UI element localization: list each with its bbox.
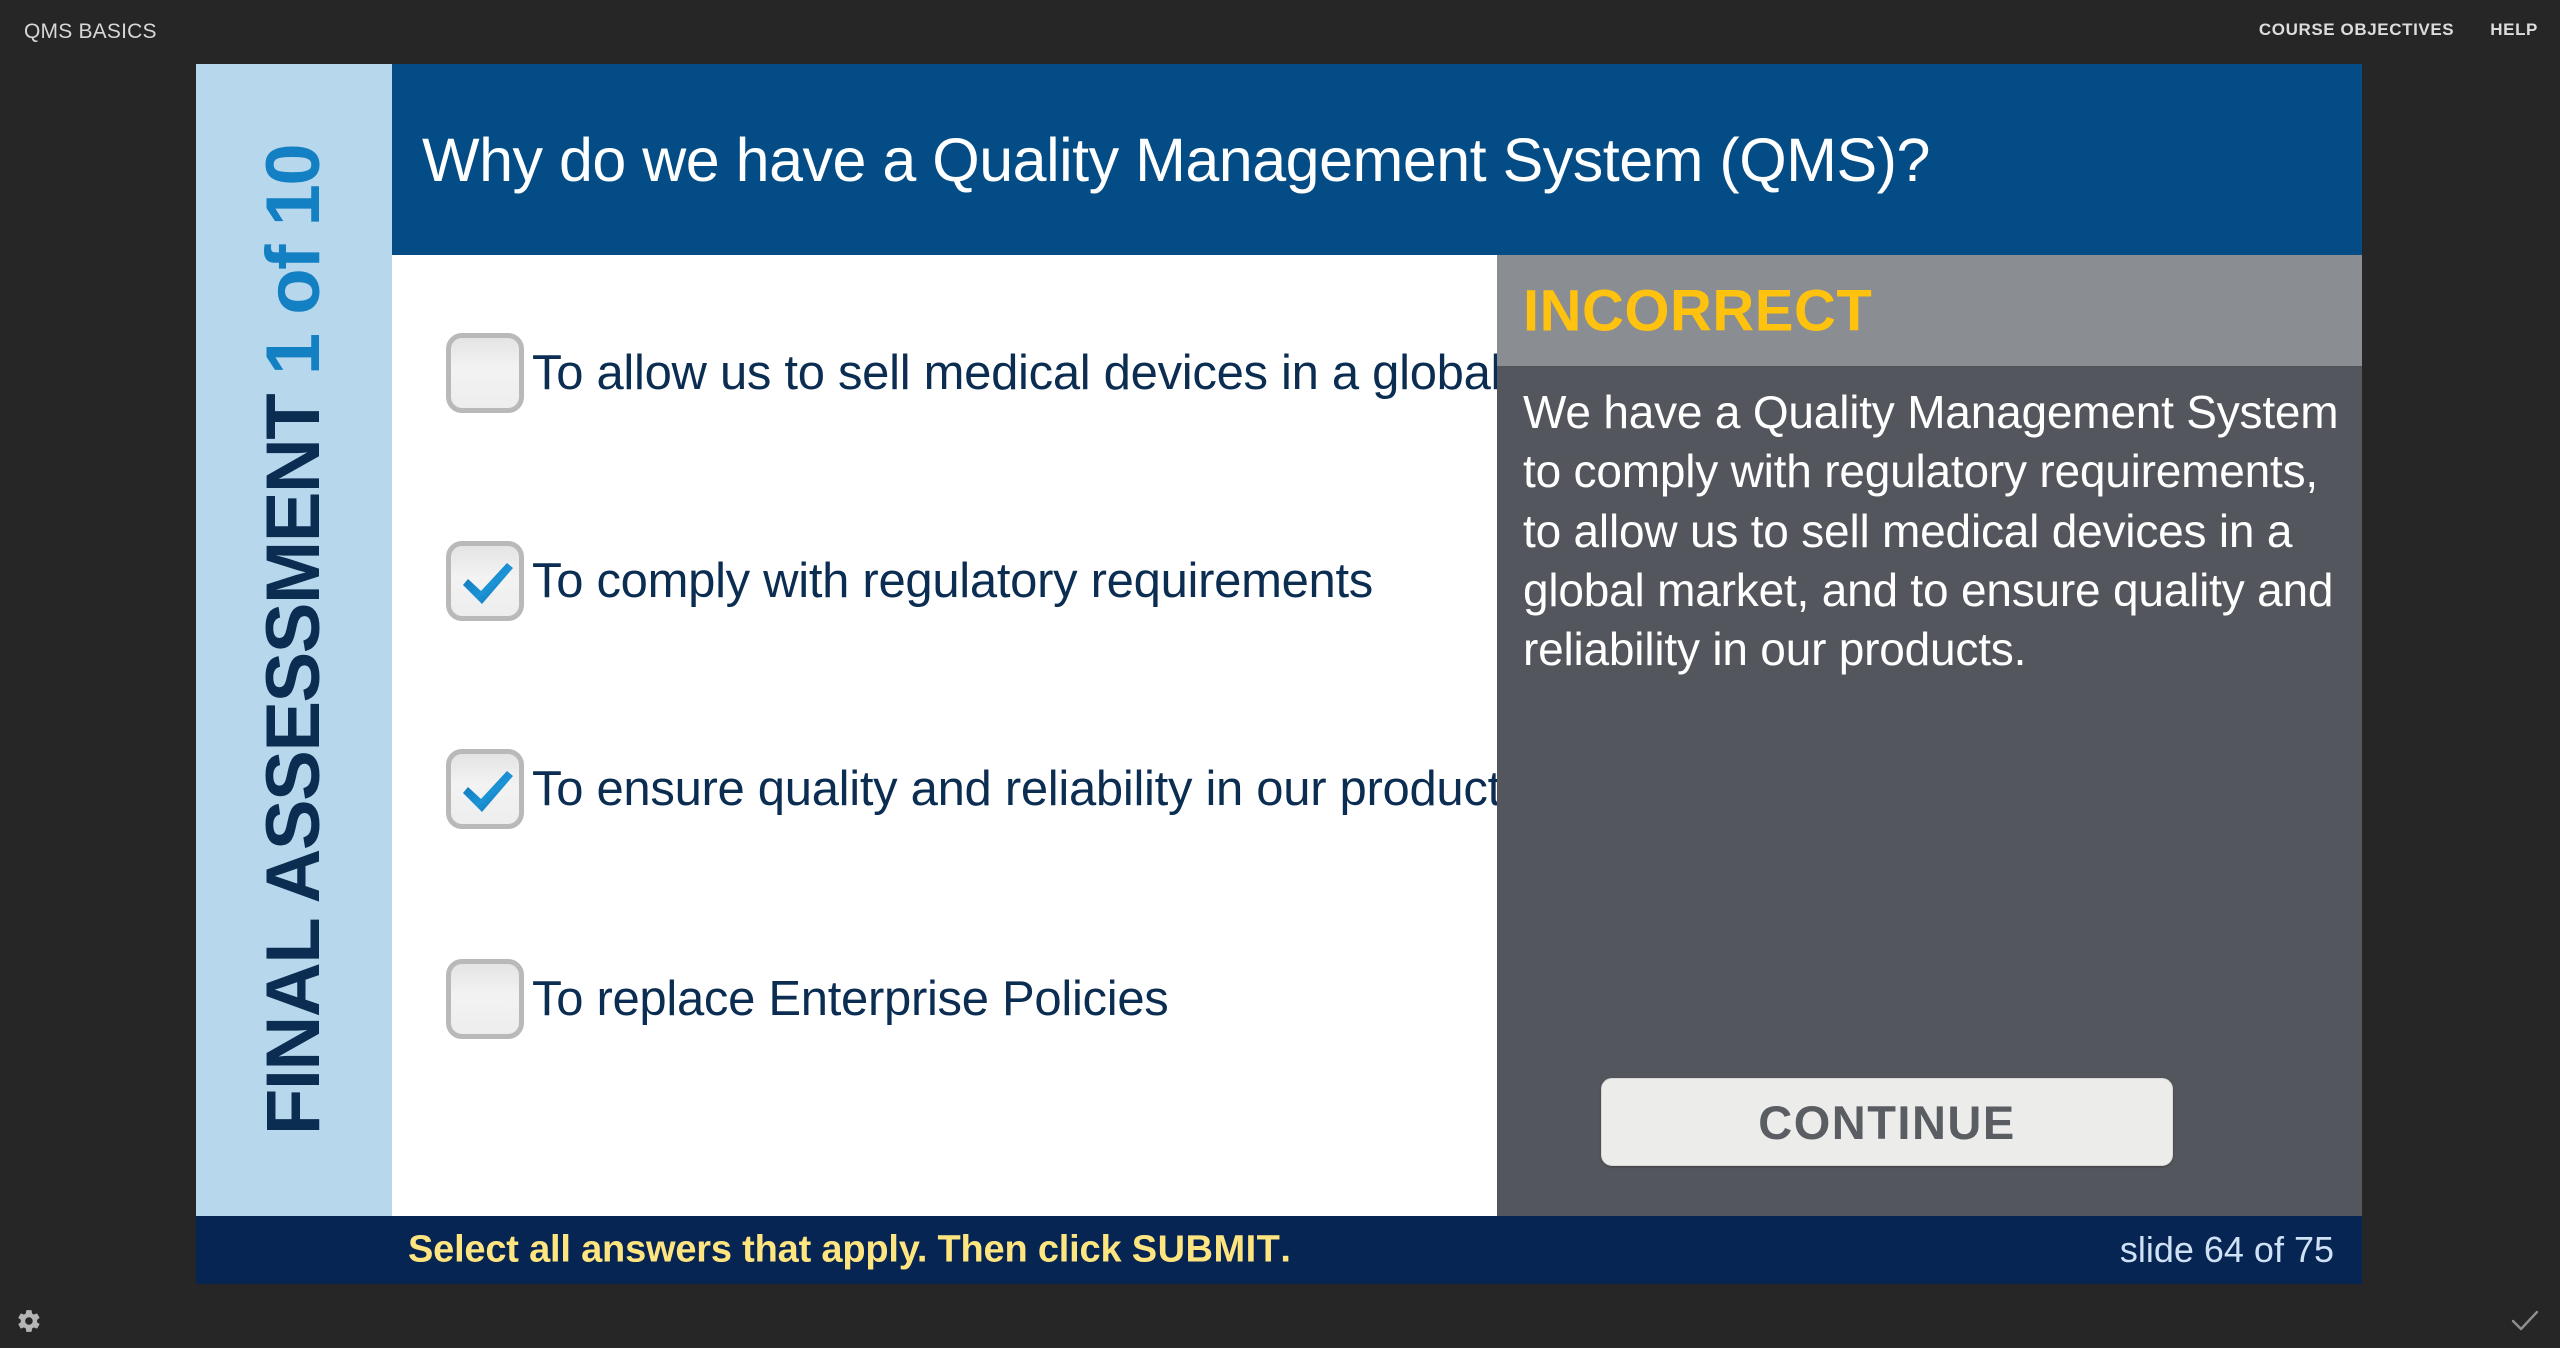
instruction-submit-word: SUBMIT xyxy=(1132,1229,1281,1271)
slide-counter: slide 64 of 75 xyxy=(2120,1229,2334,1271)
feedback-panel: INCORRECT We have a Quality Management S… xyxy=(1497,255,2362,1216)
checkbox-checked-3[interactable] xyxy=(446,749,524,829)
answer-option-4[interactable]: To replace Enterprise Policies xyxy=(446,959,1168,1039)
checkbox-checked-2[interactable] xyxy=(446,541,524,621)
sidebar-rotated-wrap: FINAL ASSESSMENT 1 of 10 xyxy=(196,64,392,1216)
nav-course-objectives[interactable]: COURSE OBJECTIVES xyxy=(2259,20,2454,40)
sidebar-vertical-label: FINAL ASSESSMENT 1 of 10 xyxy=(255,145,333,1135)
assessment-sidebar: FINAL ASSESSMENT 1 of 10 xyxy=(196,64,392,1216)
nav-help[interactable]: HELP xyxy=(2490,20,2538,40)
sidebar-main-label: FINAL ASSESSMENT xyxy=(251,395,336,1135)
slide-stage: FINAL ASSESSMENT 1 of 10 Why do we have … xyxy=(196,64,2362,1284)
checkmark-icon xyxy=(458,555,518,613)
slide-status-bar: Select all answers that apply. Then clic… xyxy=(196,1216,2362,1284)
gear-icon[interactable] xyxy=(16,1308,42,1334)
answer-option-label-4: To replace Enterprise Policies xyxy=(532,975,1168,1024)
instruction-suffix: . xyxy=(1280,1229,1290,1271)
app-root: QMS BASICS COURSE OBJECTIVES HELP FINAL … xyxy=(0,0,2560,1348)
checkbox-unchecked-4[interactable] xyxy=(446,959,524,1039)
instruction-text: Select all answers that apply. Then clic… xyxy=(408,1229,1291,1272)
player-top-bar: QMS BASICS COURSE OBJECTIVES HELP xyxy=(0,0,2560,64)
feedback-body-text: We have a Quality Management System to c… xyxy=(1523,383,2343,680)
answer-option-label-3: To ensure quality and reliability in our… xyxy=(532,765,1525,814)
question-title: Why do we have a Quality Management Syst… xyxy=(422,125,1930,195)
continue-button-label: CONTINUE xyxy=(1758,1095,2015,1150)
answer-option-2[interactable]: To comply with regulatory requirements xyxy=(446,541,1373,621)
continue-button[interactable]: CONTINUE xyxy=(1601,1078,2173,1166)
answer-option-3[interactable]: To ensure quality and reliability in our… xyxy=(446,749,1525,829)
answer-option-label-2: To comply with regulatory requirements xyxy=(532,557,1373,606)
answer-option-1[interactable]: To allow us to sell medical devices in a… xyxy=(446,333,1662,413)
checkbox-unchecked-1[interactable] xyxy=(446,333,524,413)
feedback-header: INCORRECT xyxy=(1497,255,2362,366)
feedback-heading: INCORRECT xyxy=(1523,277,1872,344)
answer-option-label-1: To allow us to sell medical devices in a… xyxy=(532,349,1662,398)
checkmark-icon xyxy=(458,763,518,821)
sidebar-sub-label: 1 of 10 xyxy=(251,145,336,375)
course-title: QMS BASICS xyxy=(24,20,157,44)
check-icon[interactable] xyxy=(2510,1308,2540,1334)
instruction-prefix: Select all answers that apply. Then clic… xyxy=(408,1229,1132,1271)
top-nav-links: COURSE OBJECTIVES HELP xyxy=(2259,20,2538,40)
player-bottom-bar xyxy=(0,1290,2560,1348)
question-title-bar: Why do we have a Quality Management Syst… xyxy=(392,64,2362,255)
